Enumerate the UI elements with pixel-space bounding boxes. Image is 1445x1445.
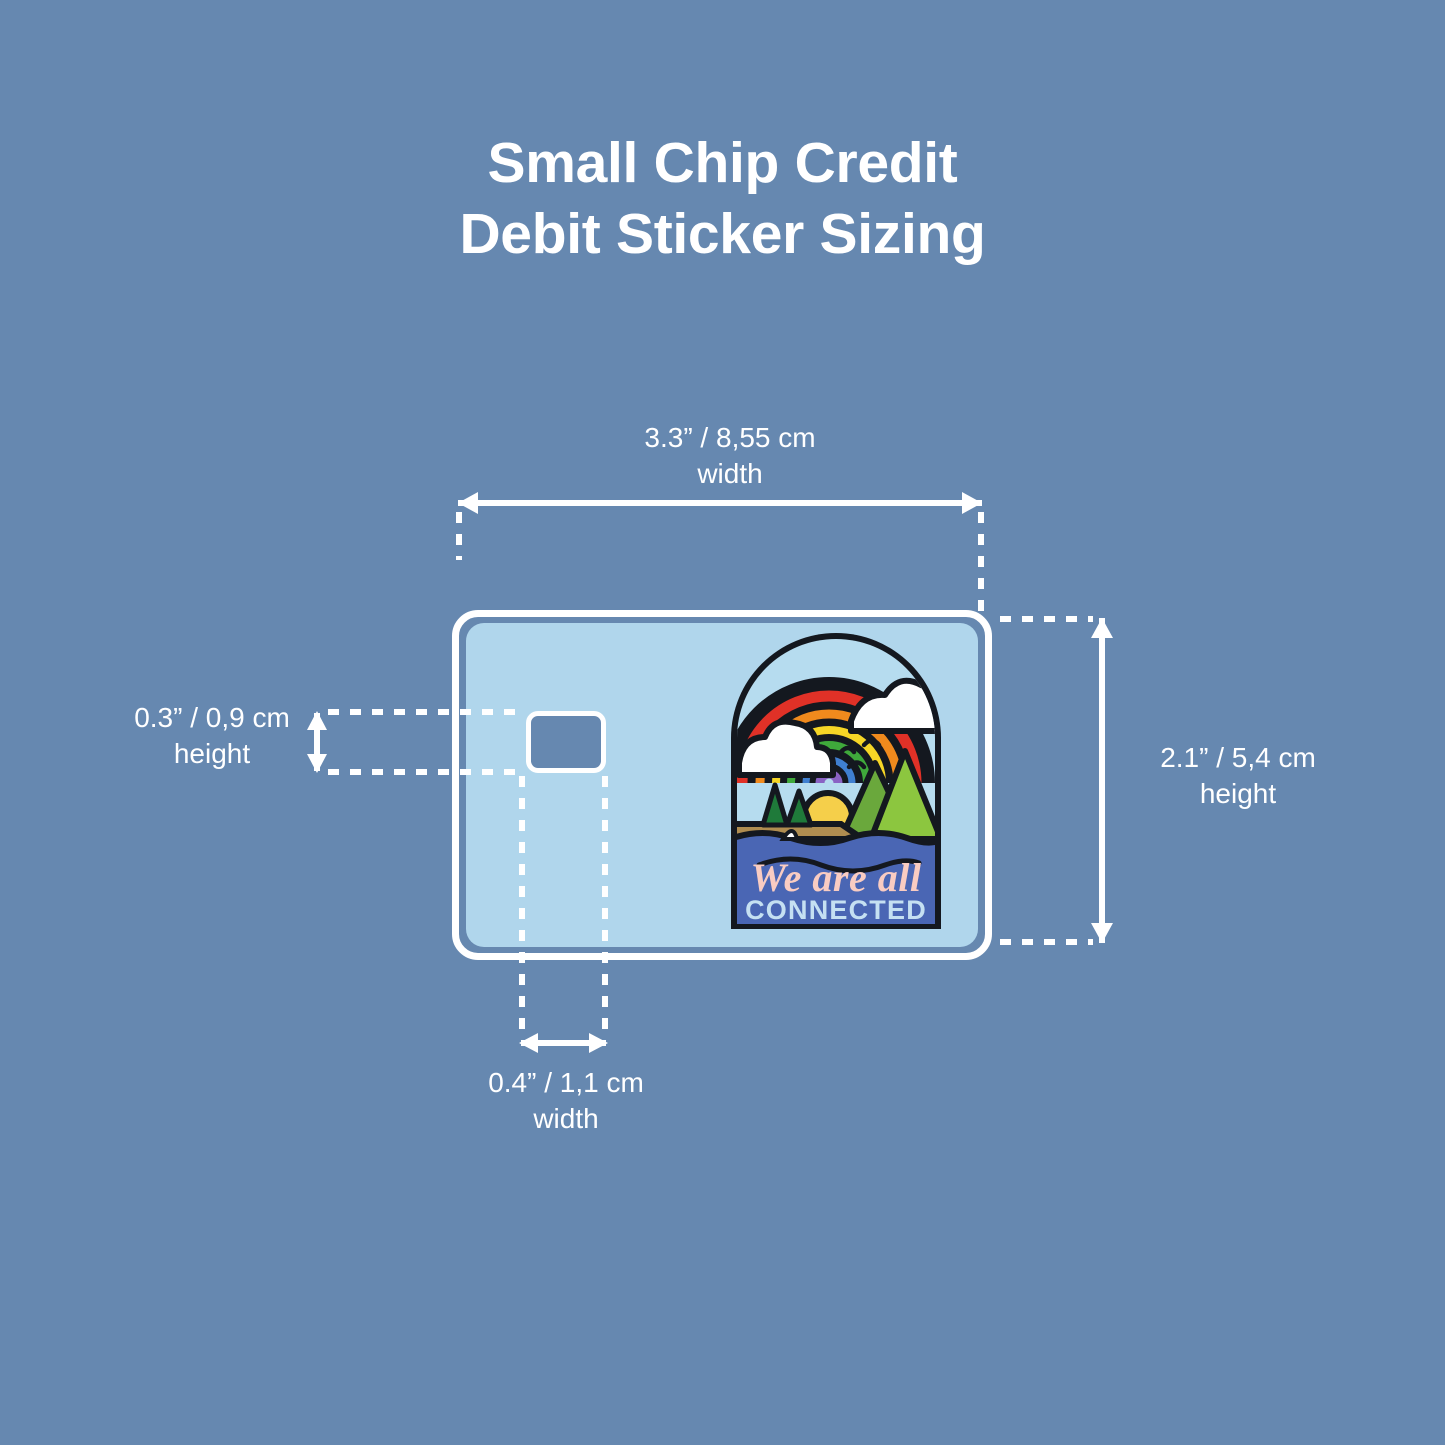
page-title-line-1: Small Chip Credit — [0, 128, 1445, 199]
label-card-height: 2.1” / 5,4 cm height — [1118, 740, 1358, 812]
label-card-height-value: 2.1” / 5,4 cm — [1118, 740, 1358, 776]
sticker-artwork: We are all CONNECTED — [723, 633, 949, 938]
label-chip-height: 0.3” / 0,9 cm height — [92, 700, 332, 772]
sticker-script-text: We are all — [751, 855, 922, 900]
page-title-line-2: Debit Sticker Sizing — [0, 199, 1445, 270]
label-chip-width: 0.4” / 1,1 cm width — [446, 1065, 686, 1137]
label-card-height-unit: height — [1118, 776, 1358, 812]
label-card-width: 3.3” / 8,55 cm width — [530, 420, 930, 492]
label-chip-width-unit: width — [446, 1101, 686, 1137]
card-chip — [526, 711, 606, 773]
dimension-card-height — [1000, 618, 1113, 943]
sticker-block-text: CONNECTED — [745, 895, 927, 925]
page-title: Small Chip Credit Debit Sticker Sizing — [0, 128, 1445, 271]
label-chip-height-unit: height — [92, 736, 332, 772]
dimension-card-width — [458, 492, 982, 612]
label-card-width-unit: width — [530, 456, 930, 492]
label-card-width-value: 3.3” / 8,55 cm — [530, 420, 930, 456]
sizing-infographic: Small Chip Credit Debit Sticker Sizing — [0, 0, 1445, 1445]
label-chip-height-value: 0.3” / 0,9 cm — [92, 700, 332, 736]
label-chip-width-value: 0.4” / 1,1 cm — [446, 1065, 686, 1101]
